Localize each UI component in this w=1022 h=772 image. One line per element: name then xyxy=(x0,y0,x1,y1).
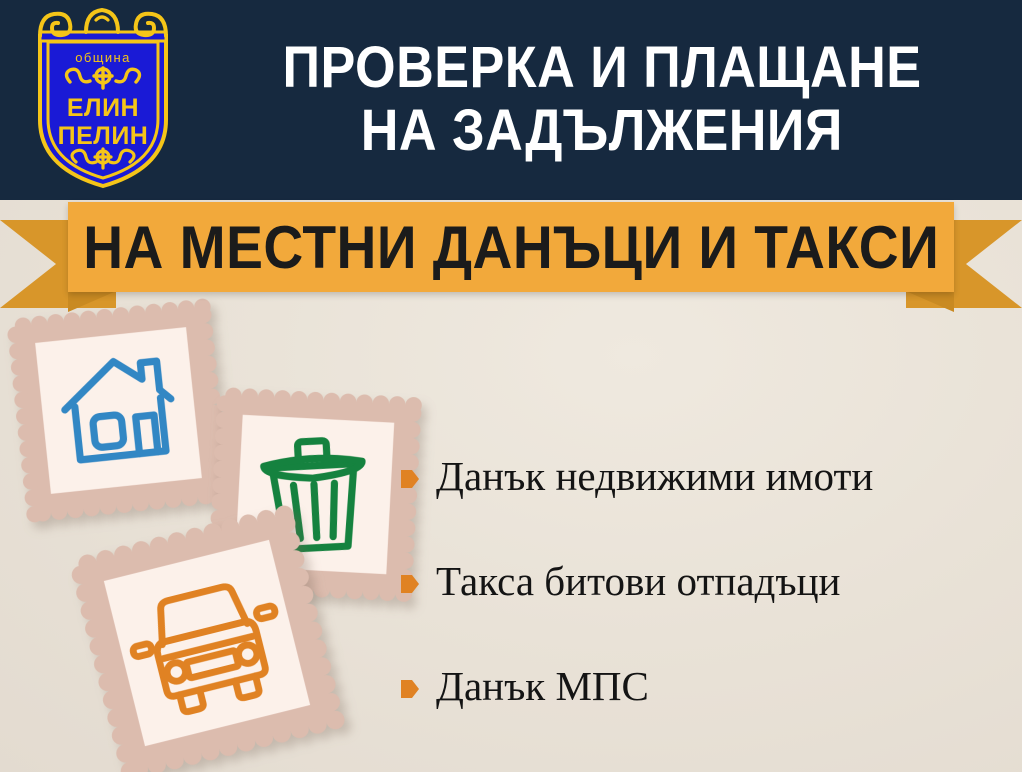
list-item[interactable]: Данък недвижими имоти xyxy=(400,424,1010,529)
ribbon-banner: НА МЕСТНИ ДАНЪЦИ И ТАКСИ xyxy=(0,198,1022,310)
tax-type-list: Данък недвижими имоти Такса битови отпад… xyxy=(400,424,1010,739)
ribbon-panel: НА МЕСТНИ ДАНЪЦИ И ТАКСИ xyxy=(68,202,954,292)
list-item-label: Данък недвижими имоти xyxy=(436,456,873,497)
svg-text:община: община xyxy=(75,50,130,65)
municipality-logo: община ЕЛИН ПЕЛИН xyxy=(18,2,188,192)
list-item-label: Данък МПС xyxy=(436,666,649,707)
header-title-block: ПРОВЕРКА И ПЛАЩАНЕ НА ЗАДЪЛЖЕНИЯ xyxy=(196,0,1008,200)
list-item[interactable]: Данък МПС xyxy=(400,634,1010,739)
svg-text:ЕЛИН: ЕЛИН xyxy=(67,94,139,122)
page-title-line-1: ПРОВЕРКА И ПЛАЩАНЕ xyxy=(282,37,921,100)
list-item-label: Такса битови отпадъци xyxy=(436,561,840,602)
bullet-arrow-icon xyxy=(400,677,420,701)
header-bar: община ЕЛИН ПЕЛИН xyxy=(0,0,1022,200)
header-inner: община ЕЛИН ПЕЛИН xyxy=(0,0,1022,200)
bullet-arrow-icon xyxy=(400,572,420,596)
bullet-arrow-icon xyxy=(400,467,420,491)
page-title-line-2: НА ЗАДЪЛЖЕНИЯ xyxy=(361,100,843,163)
ribbon-subtitle: НА МЕСТНИ ДАНЪЦИ И ТАКСИ xyxy=(83,213,939,282)
poster-canvas: община ЕЛИН ПЕЛИН xyxy=(0,0,1022,772)
list-item[interactable]: Такса битови отпадъци xyxy=(400,529,1010,634)
stamp-house xyxy=(6,298,231,523)
svg-text:ПЕЛИН: ПЕЛИН xyxy=(58,122,149,150)
